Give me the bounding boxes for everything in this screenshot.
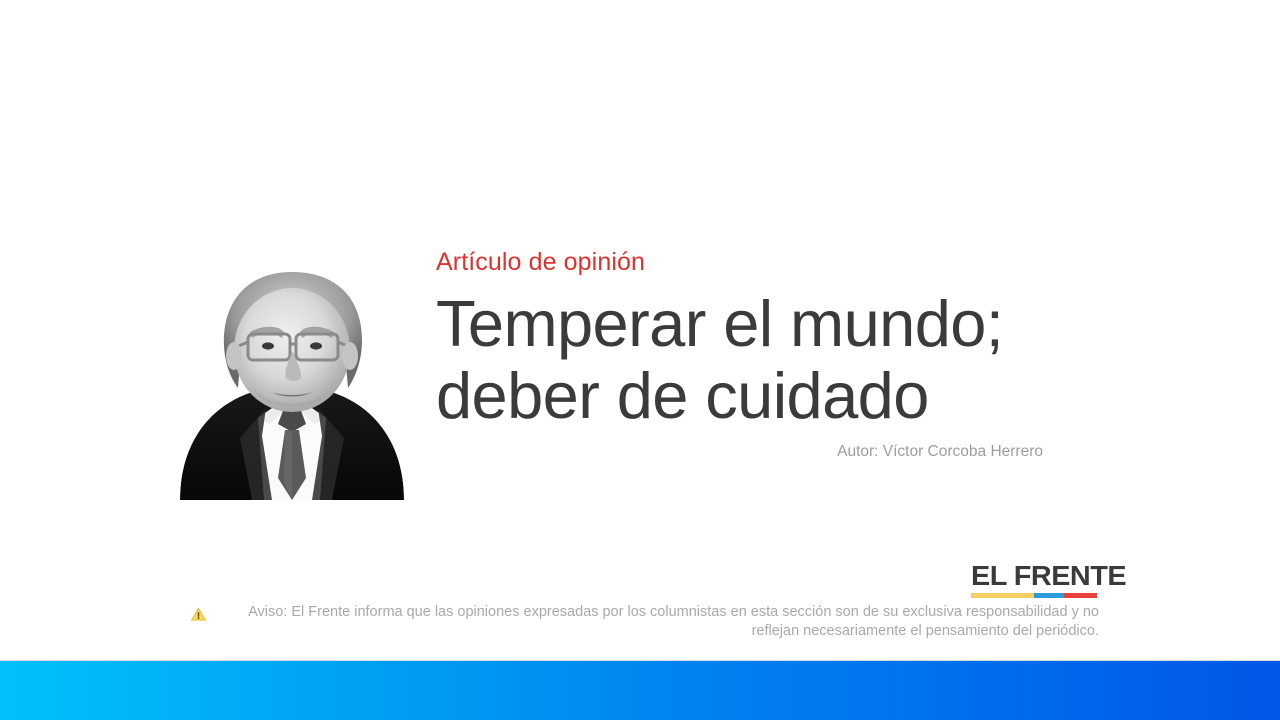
el-frente-logo: EL FRENTE (971, 562, 1099, 598)
article-author: Autor: Víctor Corcoba Herrero (600, 442, 1043, 462)
disclaimer: Aviso: El Frente informa que las opinion… (190, 603, 1099, 640)
logo-tricolor-bar (971, 593, 1097, 598)
logo-bar-red (1064, 593, 1097, 598)
article-headline: Temperar el mundo; deber de cuidado (436, 288, 1003, 432)
disclaimer-text: Aviso: El Frente informa que las opinion… (213, 603, 1099, 640)
article-kicker: Artículo de opinión (436, 248, 645, 276)
author-portrait-photo (180, 268, 404, 500)
author-portrait (180, 268, 404, 500)
logo-wordmark: EL FRENTE (971, 562, 1103, 590)
warning-triangle-icon (190, 606, 207, 622)
bottom-gradient-strip (0, 661, 1280, 720)
logo-bar-yellow (971, 593, 1034, 598)
logo-bar-blue (1034, 593, 1064, 598)
opinion-article-slide: Artículo de opinión Temperar el mundo; d… (0, 0, 1280, 720)
